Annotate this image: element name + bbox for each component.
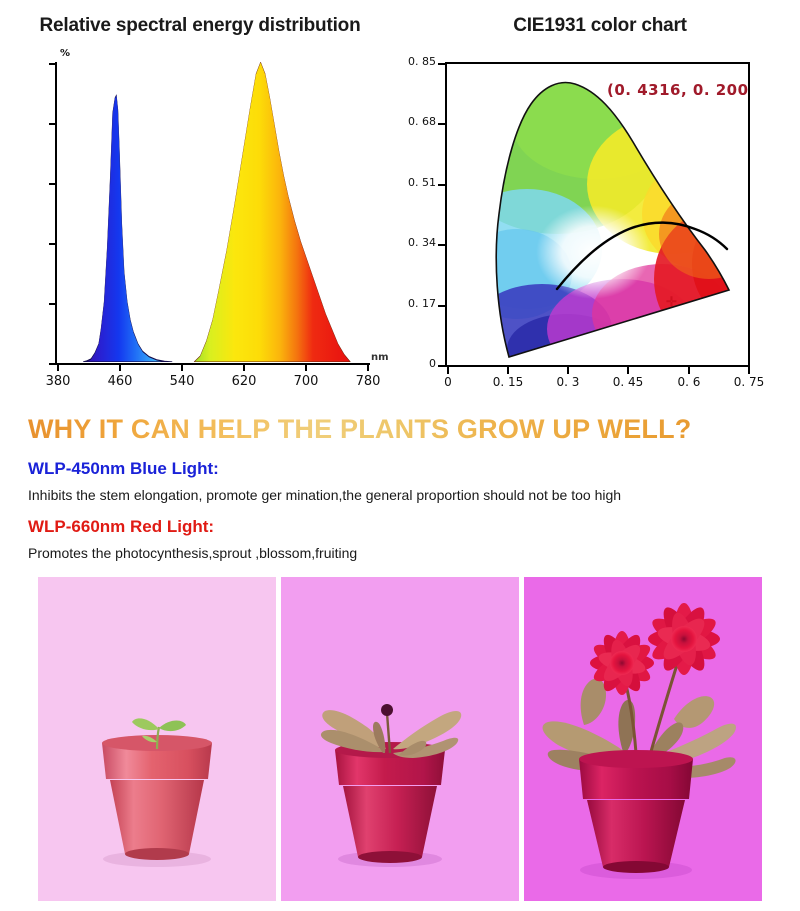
cie-ytick-085 xyxy=(438,63,445,65)
cie-coordinate-annotation: (0. 4316, 0. 2002) xyxy=(607,81,750,99)
pot-base xyxy=(125,848,189,860)
red-light-description: Promotes the photocynthesis,sprout ,blos… xyxy=(28,545,357,561)
red-light-heading: WLP-660nm Red Light: xyxy=(28,517,214,537)
cie-diagram-svg xyxy=(447,64,748,365)
cie-ylabel-051: 0. 51 xyxy=(398,177,436,188)
cie-ytick-051 xyxy=(438,184,445,186)
cie-xtick-015 xyxy=(507,367,509,374)
spectral-blue-peak xyxy=(83,95,172,362)
spectral-xtick-540 xyxy=(181,364,183,371)
spectral-xlabel-700: 700 xyxy=(283,374,329,389)
cie-xlabel-03: 0. 3 xyxy=(543,375,593,389)
pot-base xyxy=(603,861,669,873)
cie-ylabel-068: 0. 68 xyxy=(398,116,436,127)
cie-ylabel-0: 0 xyxy=(398,358,436,369)
spectral-xtick-780 xyxy=(367,364,369,371)
spectral-xlabel-620: 620 xyxy=(221,374,267,389)
cie-ytick-068 xyxy=(438,123,445,125)
flower-center xyxy=(671,626,697,652)
spectral-red-peak xyxy=(194,62,351,362)
spectral-plot-area xyxy=(56,62,366,362)
cie-chart-title: CIE1931 color chart xyxy=(400,15,800,37)
cie-xtick-045 xyxy=(627,367,629,374)
pot-rim-top xyxy=(579,750,693,768)
cie-plot-area: ✛ (0. 4316, 0. 2002) xyxy=(445,62,750,367)
seedling-leaf-right xyxy=(159,720,186,731)
cie-gamut-fill xyxy=(447,64,748,365)
pot-body xyxy=(110,780,204,854)
cie-xtick-03 xyxy=(567,367,569,374)
spectral-ytick-60 xyxy=(49,183,56,185)
photo-seedling-stage xyxy=(38,577,276,901)
seedling-illustration xyxy=(38,577,276,901)
spectral-chart-panel: Relative spectral energy distribution 10… xyxy=(0,0,400,408)
seedling-leaf-left xyxy=(132,718,159,730)
leaf-upper-left xyxy=(581,679,606,725)
cie-ylabel-085: 0. 85 xyxy=(398,56,436,67)
pot-body xyxy=(343,786,437,857)
photo-flowering-stage xyxy=(524,577,762,901)
spectral-ytick-20 xyxy=(49,303,56,305)
plant-growth-photo-strip xyxy=(38,577,762,901)
spectral-xtick-380 xyxy=(57,364,59,371)
cie-ylabel-034: 0. 34 xyxy=(398,237,436,248)
cie-xlabel-045: 0. 45 xyxy=(603,375,653,389)
blue-light-description: Inhibits the stem elongation, promote ge… xyxy=(28,487,621,503)
cie-xtick-06 xyxy=(688,367,690,374)
section-headline: WHY IT CAN HELP THE PLANTS GROW UP WELL? xyxy=(28,414,788,445)
cie-ylabel-017: 0. 17 xyxy=(398,298,436,309)
cie-chart-panel: CIE1931 color chart 0. 85 0. 68 0. 51 0.… xyxy=(400,0,800,408)
spectral-ytick-0 xyxy=(49,363,56,365)
flower-bud xyxy=(381,704,393,716)
cie-xlabel-0: 0 xyxy=(423,375,473,389)
spectral-xlabel-380: 380 xyxy=(35,374,81,389)
spectral-x-axis xyxy=(55,363,370,365)
spectral-ytick-40 xyxy=(49,243,56,245)
cie-ytick-0 xyxy=(438,365,445,367)
blue-light-heading: WLP-450nm Blue Light: xyxy=(28,459,219,479)
photo-growing-stage xyxy=(281,577,519,901)
spectral-x-unit: nm xyxy=(371,352,389,363)
cie-xtick-0 xyxy=(447,367,449,374)
spectral-xlabel-780: 780 xyxy=(345,374,391,389)
flower-right xyxy=(647,602,720,675)
spectral-xtick-700 xyxy=(305,364,307,371)
spectral-xlabel-460: 460 xyxy=(97,374,143,389)
spectral-xtick-460 xyxy=(119,364,121,371)
cie-chromaticity-marker: ✛ xyxy=(666,297,675,306)
cie-xlabel-015: 0. 15 xyxy=(483,375,533,389)
cie-xtick-075 xyxy=(748,367,750,374)
cie-xlabel-075: 0. 75 xyxy=(724,375,774,389)
spectral-ytick-80 xyxy=(49,123,56,125)
spectral-xtick-620 xyxy=(243,364,245,371)
growing-plant-illustration xyxy=(281,577,519,901)
charts-row: Relative spectral energy distribution 10… xyxy=(0,0,800,408)
pot-body xyxy=(587,800,685,867)
cie-ytick-017 xyxy=(438,305,445,307)
cie-xlabel-06: 0. 6 xyxy=(664,375,714,389)
spectral-ytick-100 xyxy=(49,63,56,65)
cie-ytick-034 xyxy=(438,244,445,246)
flowering-plant-illustration xyxy=(524,577,762,901)
spectral-chart-title: Relative spectral energy distribution xyxy=(0,15,400,37)
spectral-xlabel-540: 540 xyxy=(159,374,205,389)
pot-base xyxy=(358,851,422,863)
flower-center xyxy=(610,651,634,675)
spectral-y-unit: % xyxy=(60,48,70,59)
